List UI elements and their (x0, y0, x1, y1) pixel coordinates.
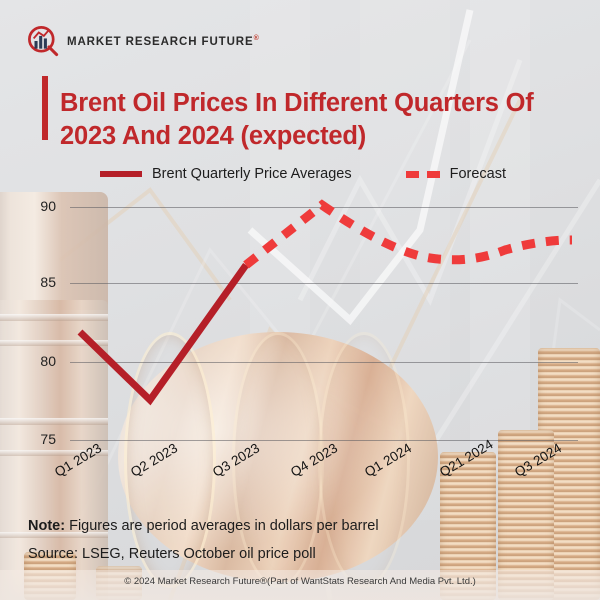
chart-series-layer (0, 0, 600, 600)
series-line-forecast (246, 205, 572, 265)
copyright-line: © 2024 Market Research Future®(Part of W… (0, 576, 600, 587)
chart-plot-area: 90 85 80 75 Q1 2023 Q2 2023 Q3 2023 Q4 2… (0, 0, 600, 600)
note-line: Note: Figures are period averages in dol… (28, 518, 379, 534)
series-line-brent-actual (80, 265, 246, 400)
source-line: Source: LSEG, Reuters October oil price … (28, 546, 316, 562)
note-label: Note: (28, 518, 65, 534)
note-text: Figures are period averages in dollars p… (65, 518, 379, 534)
infographic-canvas: MARKET RESEARCH FUTURE® Brent Oil Prices… (0, 0, 600, 600)
